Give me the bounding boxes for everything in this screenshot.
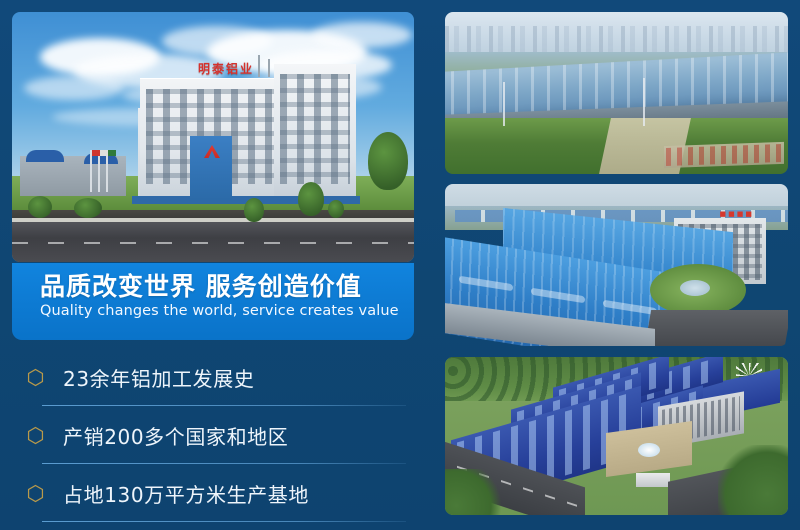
- flag: [108, 150, 116, 156]
- window-grid: [280, 74, 350, 184]
- parking-lot: [664, 142, 784, 168]
- roof-mast: [268, 59, 270, 77]
- promo-page: 明泰铝业 品质改变世界 服务创造价值 Quality changes the w…: [0, 0, 800, 530]
- tree-cluster: [445, 469, 501, 515]
- slogan-headline-cn: 品质改变世界 服务创造价值: [40, 273, 414, 301]
- tree: [368, 132, 408, 190]
- roof-mast: [258, 55, 260, 77]
- hexagon-icon: [26, 426, 45, 445]
- left-column: 明泰铝业 品质改变世界 服务创造价值 Quality changes the w…: [12, 12, 414, 518]
- building-entrance: [190, 136, 232, 200]
- campus-road: [645, 310, 788, 346]
- fountain: [638, 443, 660, 457]
- cloud-shape: [24, 76, 124, 100]
- power-pylon: [503, 82, 505, 126]
- office-tower: [274, 64, 356, 200]
- tree-cluster: [718, 445, 788, 515]
- flag: [100, 150, 108, 156]
- list-item[interactable]: 23余年铝加工发展史: [14, 348, 414, 406]
- feature-label: 23余年铝加工发展史: [63, 363, 254, 392]
- slogan-banner: 品质改变世界 服务创造价值 Quality changes the world,…: [12, 263, 414, 340]
- hexagon-icon: [26, 484, 45, 503]
- roof-sign-text: 明泰铝业: [198, 60, 254, 77]
- shrub: [28, 196, 52, 218]
- slogan-headline-en: Quality changes the world, service creat…: [40, 303, 414, 319]
- flagpole: [106, 150, 108, 192]
- feature-label: 占地130万平方米生产基地: [63, 479, 309, 508]
- tree: [298, 182, 324, 216]
- feature-list: 23余年铝加工发展史 产销200多个国家和地区 占地130万平方米生产基地: [14, 348, 414, 522]
- right-column: ■■■■: [445, 12, 788, 518]
- company-headquarters-photo: 明泰铝业: [12, 12, 414, 262]
- flag: [92, 150, 100, 156]
- rooftop-sign: ■■■■: [720, 210, 754, 218]
- industrial-park-render: [445, 357, 788, 515]
- shrub: [74, 198, 102, 218]
- power-pylon: [643, 78, 645, 126]
- flagpole: [98, 150, 100, 192]
- main-gate: [636, 473, 670, 487]
- shrub: [328, 200, 344, 218]
- fountain: [680, 280, 710, 296]
- aerial-factory-campus-photo: ■■■■: [445, 184, 788, 346]
- hexagon-icon: [26, 368, 45, 387]
- road: [12, 222, 414, 262]
- feature-label: 产销200多个国家和地区: [63, 421, 288, 450]
- shed-roof: [26, 150, 64, 162]
- list-item[interactable]: 占地130万平方米生产基地: [14, 464, 414, 522]
- flagpole: [90, 150, 92, 192]
- aerial-factory-wide-photo: [445, 12, 788, 174]
- tree: [244, 198, 264, 222]
- list-item[interactable]: 产销200多个国家和地区: [14, 406, 414, 464]
- cloud-shape: [312, 22, 412, 48]
